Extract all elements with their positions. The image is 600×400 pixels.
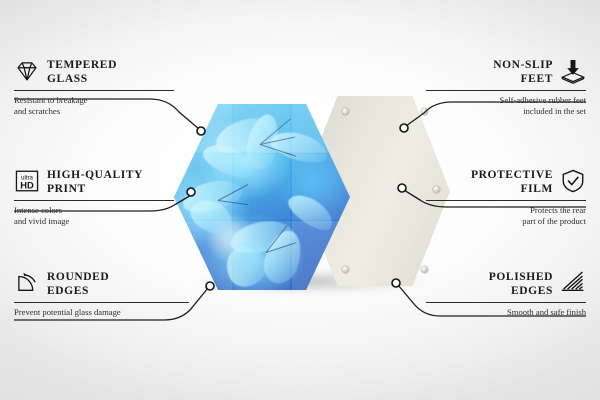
feature-description: Prevent potential glass damage [14, 307, 189, 318]
title-divider [426, 302, 586, 303]
feature-description: and scratches [14, 106, 174, 117]
feature-description: and vivid image [14, 216, 174, 227]
feature-title: FILM [426, 182, 553, 196]
feature-description: Self-adhesive rubber feet [426, 95, 586, 106]
feature-non-slip-feet: NON-SLIP FEET Self-adhesive rubber feet … [426, 58, 586, 116]
feature-title: HIGH-QUALITY [47, 168, 143, 182]
feature-title: TEMPERED [47, 58, 117, 72]
feature-title: FEET [426, 72, 553, 86]
feature-rounded-edges: ROUNDED EDGES Prevent potential glass da… [14, 270, 189, 318]
title-divider [14, 302, 189, 303]
feature-protective-film: PROTECTIVE FILM Protects the rear part o… [426, 168, 586, 226]
title-divider [426, 90, 586, 91]
feature-tempered-glass: TEMPERED GLASS Resistant to breakage and… [14, 58, 174, 116]
hatch-triangle-icon [560, 270, 586, 296]
press-down-pad-icon [560, 58, 586, 84]
glass-print-surface [174, 104, 350, 290]
glass-sheen [174, 104, 350, 290]
feature-description: Intense colors [14, 205, 174, 216]
feature-title: POLISHED [426, 270, 553, 284]
shield-check-icon [560, 168, 586, 194]
title-divider [426, 200, 586, 201]
diamond-icon [14, 58, 40, 84]
feature-title: NON-SLIP [426, 58, 553, 72]
rounded-corner-icon [14, 270, 40, 296]
printed-glass-hexagon [174, 104, 350, 290]
title-divider [14, 200, 174, 201]
feature-title: PRINT [47, 182, 143, 196]
feature-title: EDGES [426, 284, 553, 298]
feature-high-quality-print: ultra HD HIGH-QUALITY PRINT Intense colo… [14, 168, 174, 226]
feature-title: EDGES [47, 284, 109, 298]
ultra-hd-icon-bottom: HD [20, 180, 34, 190]
feature-description: Protects the rear [426, 205, 586, 216]
feature-description: part of the product [426, 216, 586, 227]
title-divider [14, 90, 174, 91]
feature-description: included in the set [426, 106, 586, 117]
feature-description: Smooth and safe finish [426, 307, 586, 318]
feature-title: ROUNDED [47, 270, 109, 284]
feature-polished-edges: POLISHED EDGES Smooth and safe finish [426, 270, 586, 318]
ultra-hd-icon: ultra HD [14, 168, 40, 194]
feature-title: PROTECTIVE [426, 168, 553, 182]
feature-description: Resistant to breakage [14, 95, 174, 106]
feature-title: GLASS [47, 72, 117, 86]
infographic-canvas: TEMPERED GLASS Resistant to breakage and… [0, 0, 600, 400]
